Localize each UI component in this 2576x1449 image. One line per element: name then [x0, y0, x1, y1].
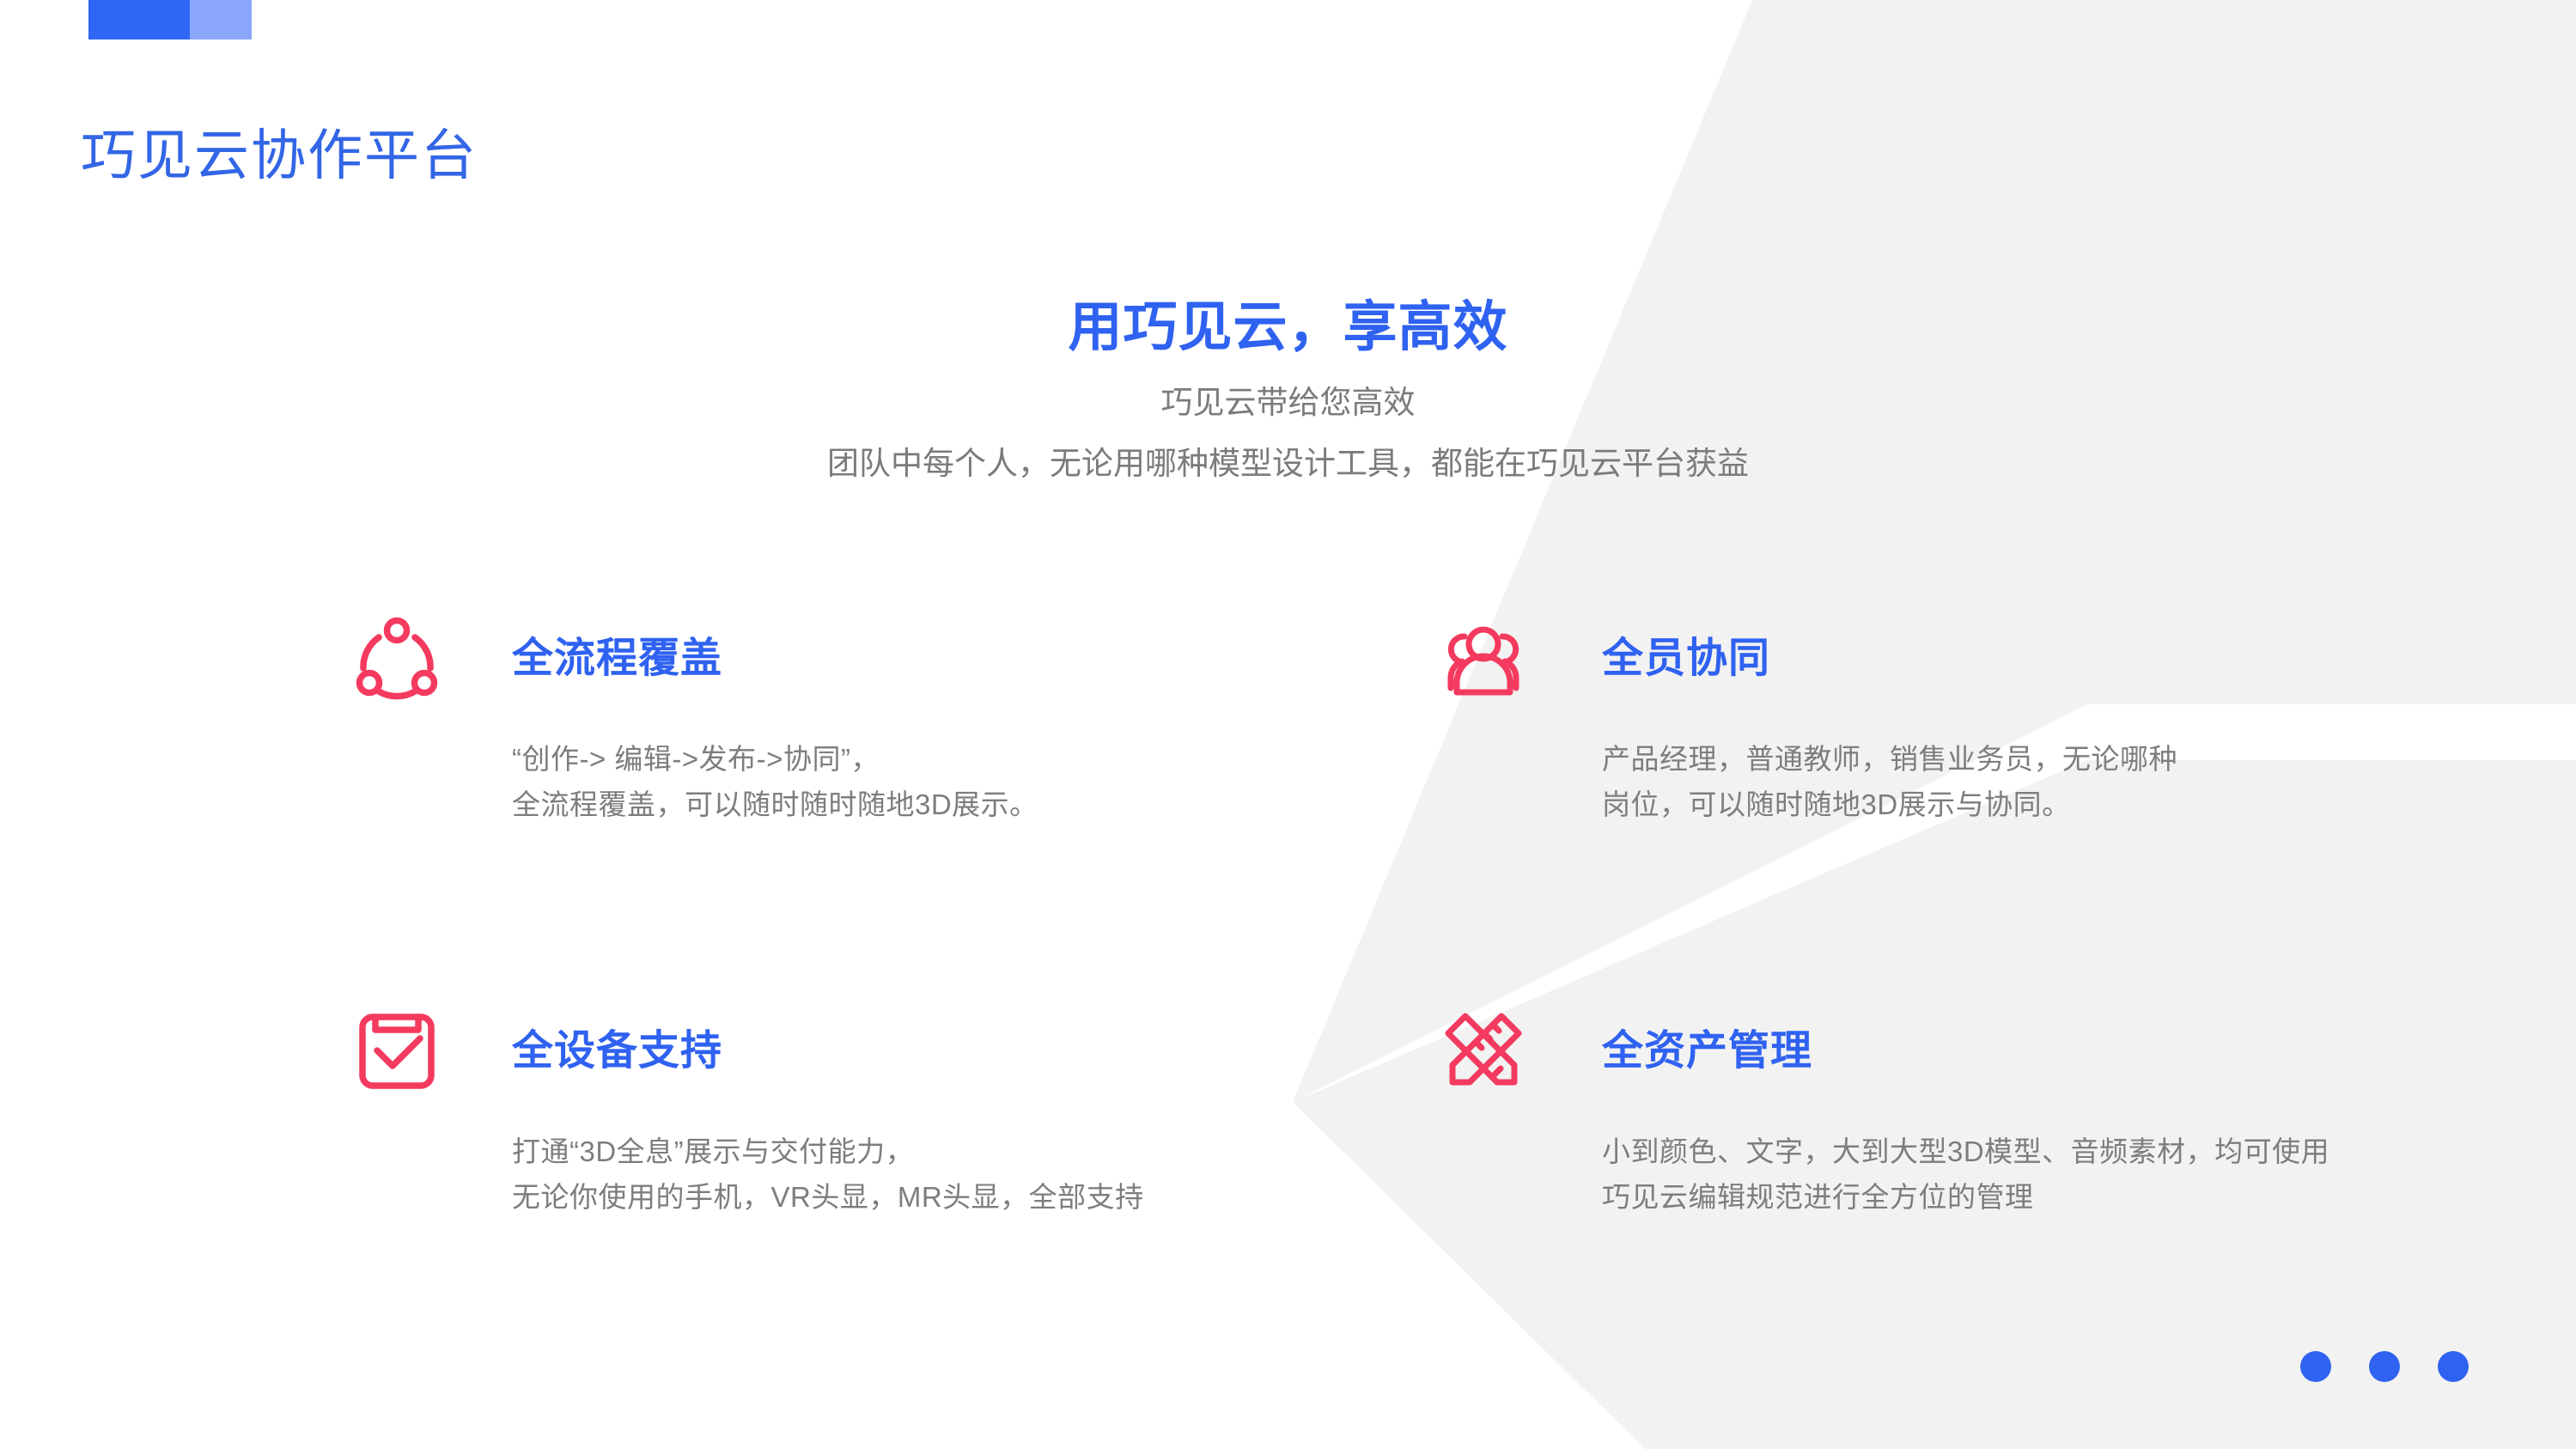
- hero-subtitle-primary: 巧见云带给您高效: [0, 382, 2576, 423]
- feature-card-full-process: 全流程覆盖 “创作-> 编辑->发布->协同”， 全流程覆盖，可以随时随时随地3…: [352, 614, 1314, 828]
- feature-title: 全设备支持: [512, 1031, 722, 1072]
- hero-subtitle-secondary: 团队中每个人，无论用哪种模型设计工具，都能在巧见云平台获益: [0, 443, 2576, 484]
- feature-description: 产品经理，普通教师，销售业务员，无论哪种 岗位，可以随时随地3D展示与协同。: [1602, 736, 2401, 828]
- feature-card-asset-management: 全资产管理 小到颜色、文字，大到大型3D模型、音频素材，均可使用 巧见云编辑规范…: [1439, 1007, 2401, 1221]
- pager-dot-1[interactable]: [2300, 1351, 2331, 1382]
- feature-card-all-devices: 全设备支持 打通“3D全息”展示与交付能力， 无论你使用的手机，VR头显，MR头…: [352, 1007, 1314, 1221]
- feature-header: 全员协同: [1439, 614, 2401, 703]
- brand-logo-mark: [88, 0, 252, 40]
- pager-dots[interactable]: [2300, 1351, 2469, 1382]
- feature-title: 全员协同: [1602, 638, 1770, 679]
- feature-description-line: “创作-> 编辑->发布->协同”，: [512, 736, 1314, 782]
- band-upper-shape: [1293, 0, 2576, 1102]
- feature-header: 全设备支持: [352, 1007, 1314, 1096]
- feature-title: 全流程覆盖: [512, 638, 722, 679]
- crossed-rulers-icon: [1439, 1007, 1528, 1096]
- feature-description-line: 全流程覆盖，可以随时随时随地3D展示。: [512, 782, 1314, 827]
- hero-headline: 用巧见云，享高效: [0, 296, 2576, 358]
- device-check-icon: [352, 1007, 442, 1096]
- feature-header: 全流程覆盖: [352, 614, 1314, 703]
- slide-canvas: 巧见云协作平台 用巧见云，享高效 巧见云带给您高效 团队中每个人，无论用哪种模型…: [0, 0, 2576, 1449]
- feature-description: 小到颜色、文字，大到大型3D模型、音频素材，均可使用 巧见云编辑规范进行全方位的…: [1602, 1129, 2401, 1221]
- feature-description-line: 产品经理，普通教师，销售业务员，无论哪种: [1602, 736, 2401, 782]
- feature-description: 打通“3D全息”展示与交付能力， 无论你使用的手机，VR头显，MR头显，全部支持: [512, 1129, 1314, 1221]
- feature-description: “创作-> 编辑->发布->协同”， 全流程覆盖，可以随时随时随地3D展示。: [512, 736, 1314, 828]
- share-network-icon: [352, 614, 442, 703]
- feature-title: 全资产管理: [1602, 1031, 1812, 1072]
- feature-description-line: 巧见云编辑规范进行全方位的管理: [1602, 1174, 2401, 1220]
- logo-block-light: [190, 0, 252, 40]
- feature-description-line: 打通“3D全息”展示与交付能力，: [512, 1129, 1314, 1174]
- pager-dot-2[interactable]: [2369, 1351, 2400, 1382]
- feature-card-all-members: 全员协同 产品经理，普通教师，销售业务员，无论哪种 岗位，可以随时随地3D展示与…: [1439, 614, 2401, 828]
- logo-block-dark: [88, 0, 190, 40]
- page-title: 巧见云协作平台: [81, 128, 478, 183]
- feature-header: 全资产管理: [1439, 1007, 2401, 1096]
- pager-dot-3[interactable]: [2438, 1351, 2469, 1382]
- hero-section: 用巧见云，享高效 巧见云带给您高效 团队中每个人，无论用哪种模型设计工具，都能在…: [0, 296, 2576, 484]
- feature-description-line: 小到颜色、文字，大到大型3D模型、音频素材，均可使用: [1602, 1129, 2401, 1174]
- feature-description-line: 无论你使用的手机，VR头显，MR头显，全部支持: [512, 1174, 1314, 1220]
- feature-description-line: 岗位，可以随时随地3D展示与协同。: [1602, 782, 2401, 827]
- users-group-icon: [1439, 614, 1528, 703]
